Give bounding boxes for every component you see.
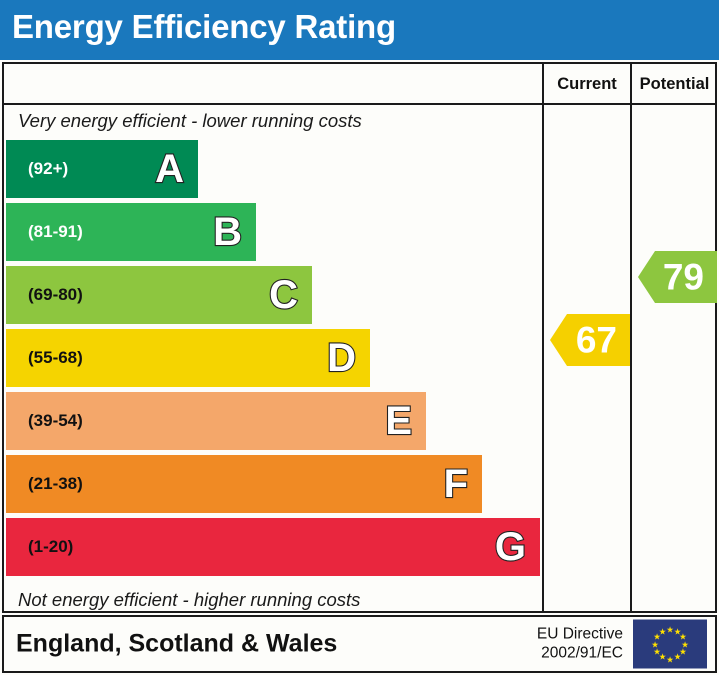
chart-title-bar: Energy Efficiency Rating bbox=[0, 0, 719, 60]
column-divider-current bbox=[542, 64, 544, 611]
band-letter-e: E bbox=[385, 401, 412, 441]
band-range-label: (55-68) bbox=[28, 348, 83, 368]
eu-star-icon: ★ bbox=[666, 655, 674, 664]
eu-directive-line1: EU Directive bbox=[537, 625, 623, 644]
band-letter-f: F bbox=[444, 464, 468, 504]
band-range-label: (21-38) bbox=[28, 474, 83, 494]
footer-region-label: England, Scotland & Wales bbox=[16, 630, 337, 659]
rating-band-d: (55-68)D bbox=[6, 329, 370, 387]
rating-arrow-current: 67 bbox=[550, 314, 630, 366]
caption-inefficient: Not energy efficient - higher running co… bbox=[18, 589, 360, 611]
band-range-label: (39-54) bbox=[28, 411, 83, 431]
rating-band-b: (81-91)B bbox=[6, 203, 256, 261]
rating-band-f: (21-38)F bbox=[6, 455, 482, 513]
eu-directive-label: EU Directive 2002/91/EC bbox=[537, 625, 623, 664]
caption-efficient: Very energy efficient - lower running co… bbox=[18, 110, 362, 132]
band-range-label: (92+) bbox=[28, 159, 68, 179]
page-title: Energy Efficiency Rating bbox=[12, 8, 396, 46]
column-header-current: Current bbox=[544, 72, 630, 96]
rating-value-current: 67 bbox=[576, 322, 617, 359]
rating-band-c: (69-80)C bbox=[6, 266, 312, 324]
chart-body: Current Potential Very energy efficient … bbox=[2, 62, 717, 613]
column-divider-potential bbox=[630, 64, 632, 611]
energy-efficiency-rating-chart: Energy Efficiency Rating Current Potenti… bbox=[0, 0, 719, 675]
band-letter-b: B bbox=[213, 212, 242, 252]
column-header-potential: Potential bbox=[632, 72, 717, 96]
eu-directive-line2: 2002/91/EC bbox=[537, 644, 623, 663]
eu-star-icon: ★ bbox=[674, 653, 682, 662]
band-letter-c: C bbox=[269, 275, 298, 315]
eu-star-icon: ★ bbox=[666, 625, 674, 634]
rating-band-e: (39-54)E bbox=[6, 392, 426, 450]
eu-star-icon: ★ bbox=[659, 627, 667, 636]
rating-band-g: (1-20)G bbox=[6, 518, 540, 576]
band-letter-d: D bbox=[327, 338, 356, 378]
eu-flag-icon: ★★★★★★★★★★★★ bbox=[633, 620, 707, 669]
band-letter-g: G bbox=[495, 527, 526, 567]
band-letter-a: A bbox=[155, 149, 184, 189]
band-range-label: (1-20) bbox=[28, 537, 73, 557]
chart-footer: England, Scotland & Wales EU Directive 2… bbox=[2, 615, 717, 673]
band-range-label: (81-91) bbox=[28, 222, 83, 242]
rating-arrow-potential: 79 bbox=[638, 251, 717, 303]
header-rule bbox=[4, 103, 715, 105]
rating-value-potential: 79 bbox=[663, 259, 704, 296]
band-range-label: (69-80) bbox=[28, 285, 83, 305]
rating-band-a: (92+)A bbox=[6, 140, 198, 198]
